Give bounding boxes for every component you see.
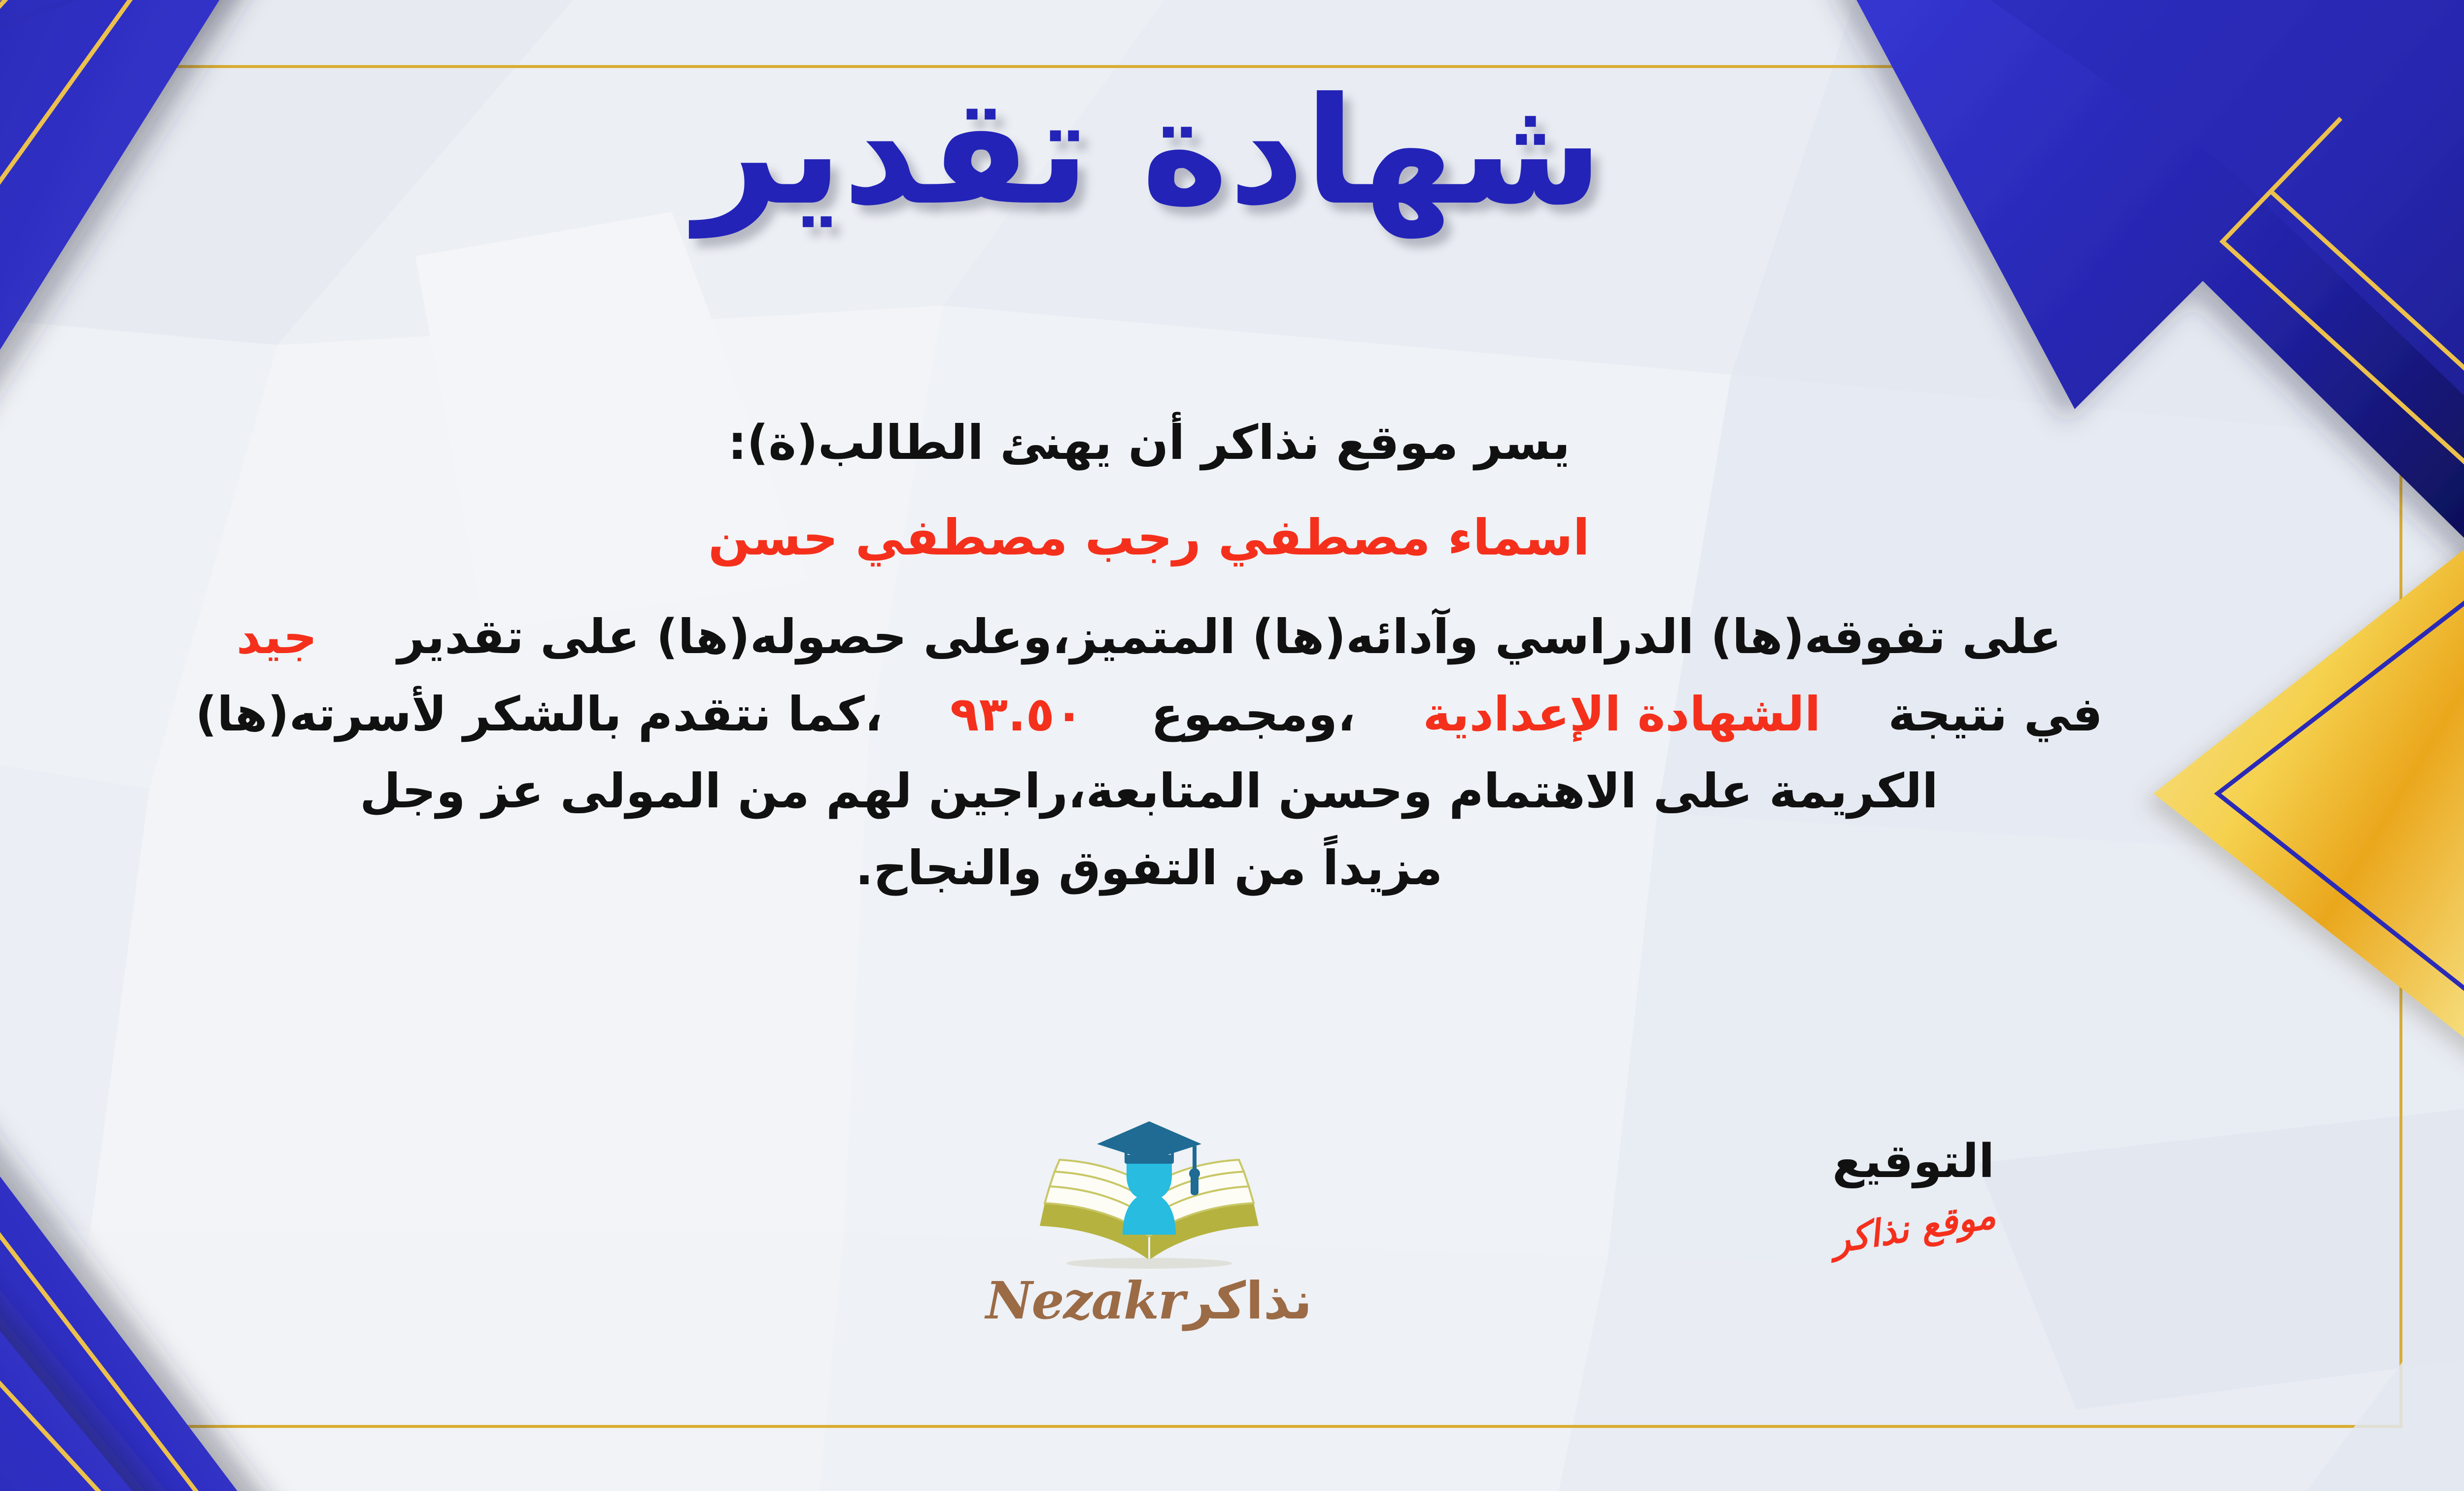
page-title: شهادة تقدير: [695, 59, 1603, 244]
thanks-prefix: ،كما نتقدم بالشكر لأسرته(ها): [195, 687, 883, 742]
signature-handwriting: موقع نذاكر: [1829, 1194, 1998, 1262]
signature-block: التوقيع موقع نذاكر: [1831, 1136, 1996, 1249]
family-thanks-line: الكريمة على الاهتمام وحسن المتابعة،راجين…: [0, 758, 2370, 825]
exam-result-line: في نتيجة الشهادة الإعدادية ،ومجموع ٩٣.٥٠…: [0, 681, 2370, 748]
nezakr-graduate-book-icon: [1021, 1111, 1277, 1274]
grade-value: جيد: [237, 609, 317, 664]
certificate-body: يسر موقع نذاكر أن يهنئ الطالب(ة): اسماء …: [0, 409, 2370, 902]
certificate-footer: التوقيع موقع نذاكر: [0, 1111, 2370, 1417]
certificate-page: شهادة تقدير يسر موقع نذاكر أن يهنئ الطال…: [0, 0, 2464, 1491]
brand-logo: نذاكرNezakr: [962, 1111, 1336, 1331]
achievement-text: على تفوقه(ها) الدراسي وآدائه(ها) المتميز…: [397, 609, 2061, 664]
exam-prefix: في نتيجة: [1888, 687, 2102, 742]
closing-wish-line: مزيداً من التفوق والنجاح.: [0, 834, 2370, 902]
certificate-title-area: شهادة تقدير: [0, 59, 2464, 244]
brand-wordmark-arabic: نذاكر: [1184, 1271, 1312, 1331]
student-name: اسماء مصطفي رجب مصطفي حسن: [0, 503, 2370, 573]
signature-label: التوقيع: [1831, 1136, 1996, 1187]
total-label: ،ومجموع: [1151, 687, 1356, 742]
total-score-value: ٩٣.٥٠: [950, 687, 1084, 742]
brand-wordmark-latin: Nezakr: [986, 1270, 1184, 1331]
greeting-line: يسر موقع نذاكر أن يهنئ الطالب(ة):: [0, 409, 2370, 476]
exam-name: الشهادة الإعدادية: [1423, 687, 1820, 742]
achievement-line: على تفوقه(ها) الدراسي وآدائه(ها) المتميز…: [0, 603, 2370, 670]
brand-wordmark: نذاكرNezakr: [962, 1270, 1336, 1331]
